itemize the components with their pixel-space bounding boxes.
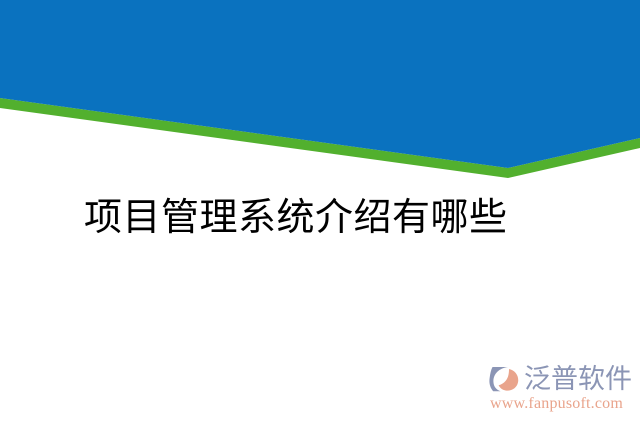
header-banner — [0, 0, 640, 200]
brand-logo[interactable]: 泛普软件 www.fanpusoft.com — [488, 361, 634, 419]
fanpu-swoosh-logo-icon — [488, 363, 522, 395]
logo-lockup: 泛普软件 — [488, 361, 632, 397]
banner-shape — [0, 0, 640, 200]
page-title: 项目管理系统介绍有哪些 — [84, 196, 508, 240]
brand-url: www.fanpusoft.com — [490, 394, 623, 413]
banner-blue-body — [0, 0, 640, 168]
banner-green-stripe — [0, 98, 640, 178]
logo-mark-shape — [488, 363, 522, 395]
title-container: 项目管理系统介绍有哪些 — [0, 196, 640, 246]
brand-name: 泛普软件 — [524, 364, 632, 394]
slide-canvas: 项目管理系统介绍有哪些 泛普软件 www.fanpusoft.com — [0, 0, 640, 427]
